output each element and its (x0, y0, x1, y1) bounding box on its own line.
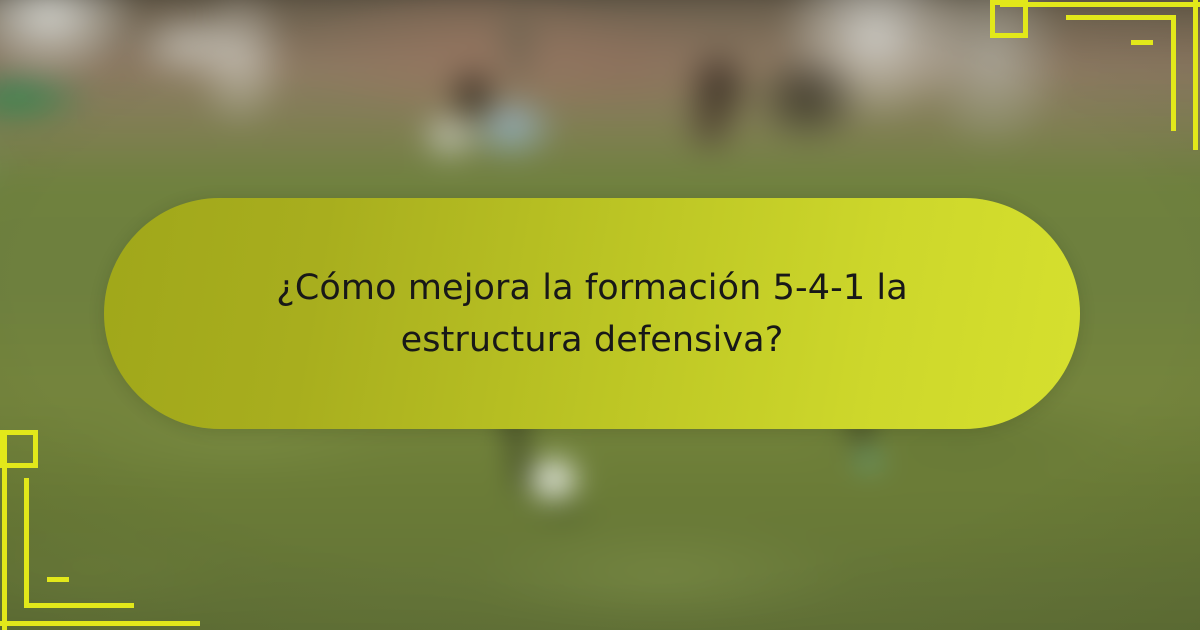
question-card: ¿Cómo mejora la formación 5-4-1 la estru… (104, 198, 1080, 429)
question-headline: ¿Cómo mejora la formación 5-4-1 la estru… (202, 262, 982, 366)
social-card-canvas: ¿Cómo mejora la formación 5-4-1 la estru… (0, 0, 1200, 630)
